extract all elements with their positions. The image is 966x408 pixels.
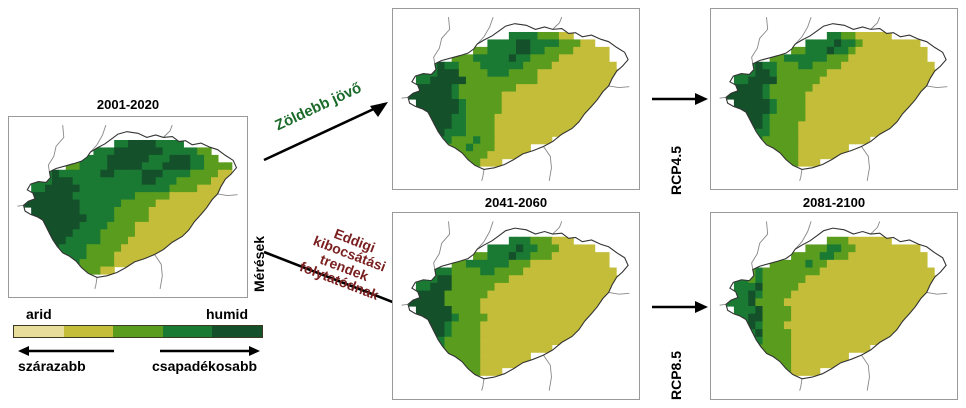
map-rcp45-end-svg bbox=[711, 9, 957, 189]
label-rcp45: RCP4.5 bbox=[668, 146, 684, 195]
legend-swatch-2 bbox=[113, 326, 163, 337]
map-panel-observed[interactable] bbox=[8, 116, 248, 298]
map-panel-rcp85-mid[interactable] bbox=[392, 212, 640, 400]
map-rcp45-mid-svg bbox=[393, 9, 639, 189]
legend-arrow-right-icon bbox=[160, 344, 260, 358]
legend-label-wetter: csapadékosabb bbox=[152, 358, 257, 374]
map-observed-svg bbox=[9, 117, 247, 297]
map-rcp85-mid-svg bbox=[393, 213, 639, 399]
label-rcp85: RCP8.5 bbox=[668, 351, 684, 400]
legend-arrow-left-icon bbox=[18, 344, 116, 358]
map-title-observed: 2001-2020 bbox=[8, 97, 248, 112]
map-rcp85-end-svg bbox=[711, 213, 957, 399]
map-title-right: 2081-2100 bbox=[710, 195, 958, 210]
legend-color-bar bbox=[13, 325, 263, 338]
legend-swatch-1 bbox=[64, 326, 114, 337]
map-panel-rcp85-end[interactable] bbox=[710, 212, 958, 400]
map-panel-rcp45-end[interactable] bbox=[710, 8, 958, 190]
scenario-arrow-rcp85 bbox=[652, 300, 708, 314]
scenario-arrow-rcp45 bbox=[652, 92, 708, 106]
legend-swatch-4 bbox=[212, 326, 262, 337]
map-panel-rcp45-mid[interactable] bbox=[392, 8, 640, 190]
legend-label-drier: szárazabb bbox=[18, 358, 86, 374]
map-title-mid: 2041-2060 bbox=[392, 195, 640, 210]
legend-swatch-3 bbox=[163, 326, 213, 337]
legend-label-arid: arid bbox=[26, 306, 52, 322]
legend-swatch-0 bbox=[14, 326, 64, 337]
legend-label-humid: humid bbox=[206, 306, 248, 322]
